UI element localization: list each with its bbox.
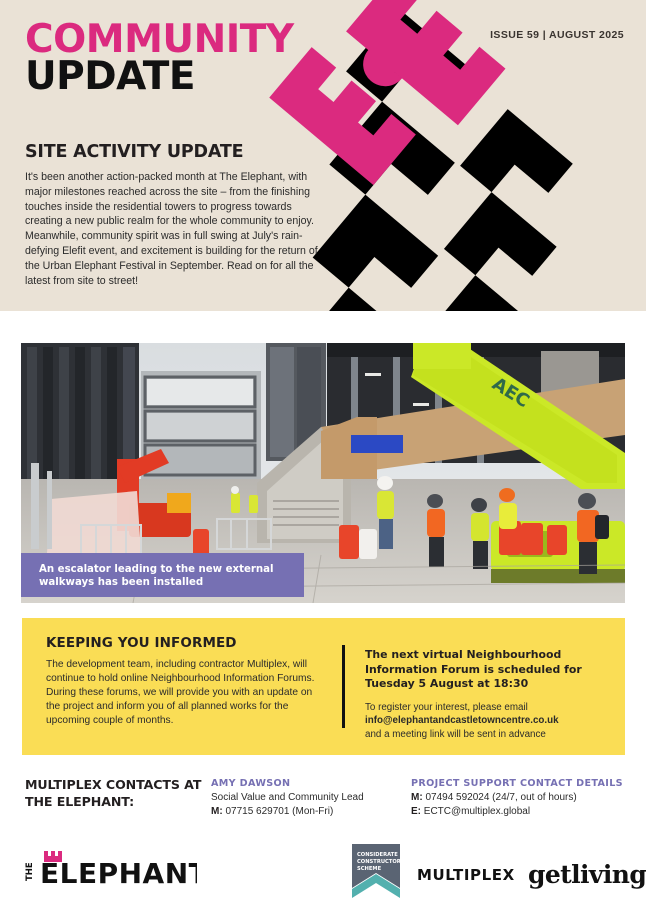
contacts-section: MULTIPLEX CONTACTS AT THE ELEPHANT: AMY … bbox=[0, 770, 646, 834]
contact-support-mobile: M: 07494 592024 (24/7, out of hours) bbox=[411, 791, 636, 805]
contact-support-email: E: ECTC@multiplex.global bbox=[411, 805, 636, 819]
contact-support-email-label: E: bbox=[411, 806, 421, 817]
site-activity-heading: SITE ACTIVITY UPDATE bbox=[25, 142, 325, 162]
header-band: COMMUNITY UPDATE ISSUE 59 | AUGUST 2025 … bbox=[0, 0, 646, 311]
keeping-informed-heading: KEEPING YOU INFORMED bbox=[46, 635, 316, 651]
contact-person-name: AMY DAWSON bbox=[211, 778, 401, 789]
getliving-logo: getliving bbox=[528, 860, 646, 889]
forum-register-line1: To register your interest, please email bbox=[365, 702, 528, 713]
svg-text:ELEPHANT: ELEPHANT bbox=[40, 857, 197, 890]
panel-divider bbox=[342, 645, 345, 728]
keeping-you-informed-panel: KEEPING YOU INFORMED The development tea… bbox=[22, 618, 625, 755]
contact-support-mobile-value: 07494 592024 (24/7, out of hours) bbox=[425, 792, 576, 803]
masthead: COMMUNITY UPDATE bbox=[25, 22, 294, 95]
contact-support-email-value[interactable]: ECTC@multiplex.global bbox=[424, 806, 530, 817]
photo-caption-text: An escalator leading to the new external… bbox=[39, 563, 291, 590]
contact-person-mobile-value: 07715 629701 (Mon-Fri) bbox=[225, 806, 333, 817]
contact-support: PROJECT SUPPORT CONTACT DETAILS M: 07494… bbox=[411, 778, 636, 819]
masthead-line-community: COMMUNITY bbox=[25, 22, 294, 58]
svg-text:THE: THE bbox=[25, 862, 35, 881]
contact-person: AMY DAWSON Social Value and Community Le… bbox=[211, 778, 401, 819]
contact-person-mobile-label: M: bbox=[211, 806, 223, 817]
site-activity-intro: SITE ACTIVITY UPDATE It's been another a… bbox=[25, 142, 325, 289]
contact-support-heading: PROJECT SUPPORT CONTACT DETAILS bbox=[411, 778, 636, 789]
ccs-line1: CONSIDERATE bbox=[357, 852, 398, 858]
ccs-line2: CONSTRUCTORS bbox=[357, 859, 402, 865]
issue-date-label: ISSUE 59 | AUGUST 2025 bbox=[490, 29, 624, 41]
multiplex-logo: MULTIPLEX bbox=[417, 866, 515, 884]
forum-register-line2: and a meeting link will be sent in advan… bbox=[365, 729, 546, 740]
keeping-informed-left: KEEPING YOU INFORMED The development tea… bbox=[46, 635, 316, 728]
forum-headline: The next virtual Neighbourhood Informati… bbox=[365, 648, 623, 692]
contact-support-mobile-label: M: bbox=[411, 792, 423, 803]
keeping-informed-body: The development team, including contract… bbox=[46, 658, 316, 728]
footer-logos: THE ELEPHANT CONSIDERATE CONSTRUCTORS SC… bbox=[0, 838, 646, 924]
contact-person-mobile: M: 07715 629701 (Mon-Fri) bbox=[211, 805, 401, 819]
contact-person-role: Social Value and Community Lead bbox=[211, 791, 401, 805]
forum-register-block: To register your interest, please email … bbox=[365, 701, 623, 742]
newsletter-page: COMMUNITY UPDATE ISSUE 59 | AUGUST 2025 … bbox=[0, 0, 646, 924]
contacts-title: MULTIPLEX CONTACTS AT THE ELEPHANT: bbox=[25, 777, 205, 810]
considerate-constructors-scheme-logo: CONSIDERATE CONSTRUCTORS SCHEME bbox=[350, 842, 402, 907]
forum-register-email[interactable]: info@elephantandcastletowncentre.co.uk bbox=[365, 715, 559, 726]
masthead-line-update: UPDATE bbox=[25, 58, 294, 95]
forum-details: The next virtual Neighbourhood Informati… bbox=[365, 648, 623, 741]
site-activity-body: It's been another action-packed month at… bbox=[25, 170, 325, 289]
photo-caption-banner: An escalator leading to the new external… bbox=[21, 553, 304, 597]
ccs-line3: SCHEME bbox=[357, 866, 382, 872]
the-elephant-logo: THE ELEPHANT bbox=[22, 848, 197, 895]
